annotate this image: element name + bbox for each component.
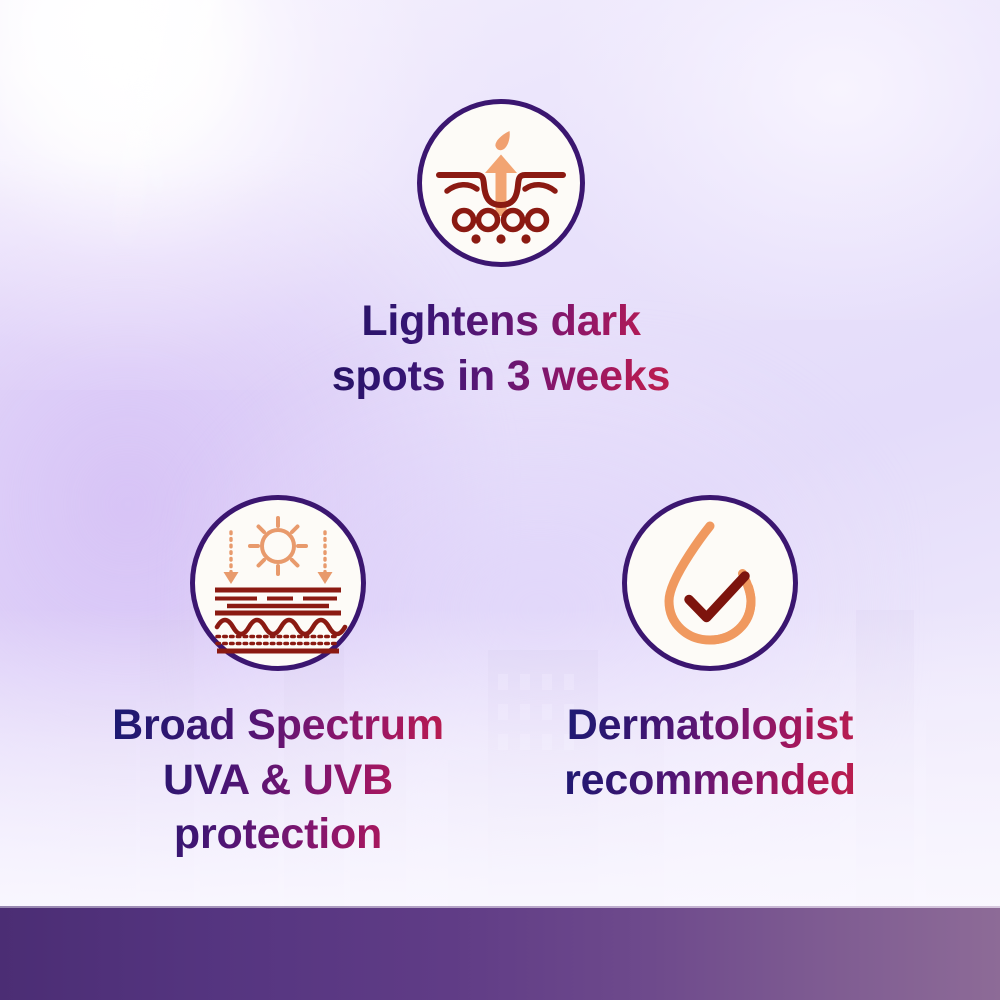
feature-title: Dermatologist recommended [564,698,856,807]
feature-dermatologist-recommended: Dermatologist recommended [460,495,960,807]
feature-title: Broad Spectrum UVA & UVB protection [112,698,444,862]
droplet-check-icon [622,495,798,671]
feature-lightens-dark-spots: Lightens dark spots in 3 weeks [251,99,751,403]
skin-pore-absorption-icon [417,99,585,267]
background-sun-core [0,0,280,170]
bottom-color-bar [0,908,1000,1000]
feature-title: Lightens dark spots in 3 weeks [332,294,671,403]
feature-broad-spectrum-protection: Broad Spectrum UVA & UVB protection [28,495,528,862]
promo-banner: Lightens dark spots in 3 weeks [0,0,1000,1000]
sun-uv-skin-layers-icon [190,495,366,671]
